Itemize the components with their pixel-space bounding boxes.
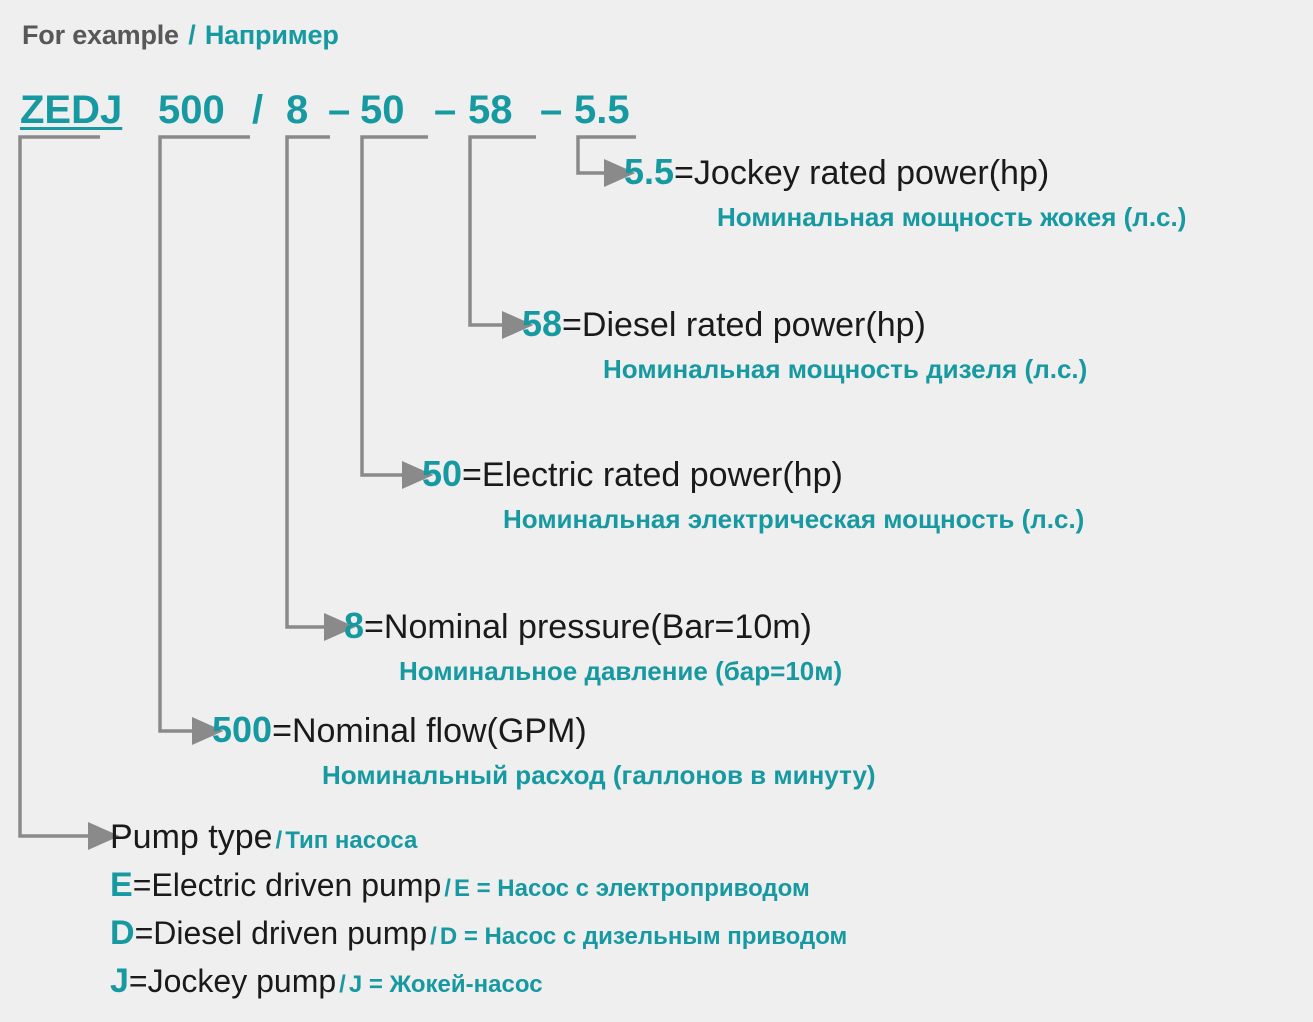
leader-bracket-diesel-rated-power [470, 137, 536, 325]
explanation-value-nominal-pressure: 8 [344, 605, 364, 646]
code-segment-500: 500 [158, 88, 225, 132]
explanation-label-diesel-rated-power: Diesel rated power(hp) [582, 306, 926, 344]
explanation-equals-electric-rated-power: = [462, 456, 482, 494]
pump-type-russian-d: D = Насос с дизельным приводом [440, 923, 847, 950]
pump-type-russian-e: E = Насос с электроприводом [454, 875, 810, 902]
code-segment-5-5: 5.5 [574, 88, 630, 132]
explanation-english-nominal-flow: 500=Nominal flow(GPM) [212, 710, 587, 751]
header-separator: / [186, 20, 197, 50]
code-segment-50: 50 [360, 88, 405, 132]
explanation-label-jockey-rated-power: Jockey rated power(hp) [694, 154, 1049, 192]
leader-bracket-nominal-pressure [287, 137, 330, 627]
pump-type-title-separator: / [273, 827, 286, 854]
explanation-value-nominal-flow: 500 [212, 709, 272, 750]
explanation-value-electric-rated-power: 50 [422, 453, 462, 494]
pump-type-row-e: E=Electric driven pump/E = Насос с элект… [110, 863, 847, 911]
explanation-russian-nominal-pressure: Номинальное давление (бар=10м) [399, 654, 842, 688]
leader-bracket-pump-type [20, 137, 100, 836]
explanation-label-electric-rated-power: Electric rated power(hp) [482, 456, 843, 494]
pump-type-code-d: D [110, 914, 135, 952]
leader-bracket-electric-rated-power [362, 137, 428, 475]
explanation-russian-electric-rated-power: Номинальная электрическая мощность (л.с.… [503, 502, 1084, 536]
explanation-russian-diesel-rated-power: Номинальная мощность дизеля (л.с.) [603, 352, 1087, 386]
explanation-label-nominal-pressure: Nominal pressure(Bar=10m) [384, 608, 812, 646]
explanation-english-jockey-rated-power: 5.5=Jockey rated power(hp) [624, 152, 1049, 193]
explanation-english-electric-rated-power: 50=Electric rated power(hp) [422, 454, 843, 495]
pump-type-separator-d: / [427, 923, 440, 950]
code-segment-/: / [252, 88, 263, 132]
pump-type-separator-j: / [336, 971, 349, 998]
explanation-label-nominal-flow: Nominal flow(GPM) [292, 712, 587, 750]
pump-type-equals-e: = [133, 867, 152, 903]
pump-type-title-russian: Тип насоса [285, 827, 417, 854]
code-segment-8: 8 [286, 88, 308, 132]
pump-type-block: Pump type/Тип насоса E=Electric driven p… [110, 815, 847, 1007]
explanation-equals-diesel-rated-power: = [562, 306, 582, 344]
pump-type-english-j: Jockey pump [148, 963, 337, 999]
explanation-russian-nominal-flow: Номинальный расход (галлонов в минуту) [322, 758, 876, 792]
pump-type-row-d: D=Diesel driven pump/D = Насос с дизельн… [110, 911, 847, 959]
pump-type-row-j: J=Jockey pump/J = Жокей-насос [110, 959, 847, 1007]
pump-type-code-e: E [110, 866, 133, 904]
code-segment-58: 58 [468, 88, 513, 132]
pump-type-equals-j: = [129, 963, 148, 999]
pump-type-code-j: J [110, 962, 129, 1000]
pump-model-code-diagram: For example / Например ZEDJ500/8–50–58–5… [0, 0, 1313, 1022]
code-segment-dash: – [540, 88, 562, 132]
explanation-equals-nominal-flow: = [272, 712, 292, 750]
explanation-english-nominal-pressure: 8=Nominal pressure(Bar=10m) [344, 606, 812, 647]
code-segment-zedj: ZEDJ [20, 88, 122, 132]
explanation-value-jockey-rated-power: 5.5 [624, 151, 674, 192]
header-english: For example [22, 20, 179, 50]
pump-type-separator-e: / [441, 875, 454, 902]
pump-type-english-d: Diesel driven pump [153, 915, 427, 951]
pump-type-equals-d: = [135, 915, 154, 951]
explanation-value-diesel-rated-power: 58 [522, 303, 562, 344]
explanation-russian-jockey-rated-power: Номинальная мощность жокея (л.с.) [717, 200, 1186, 234]
pump-type-english-e: Electric driven pump [151, 867, 441, 903]
pump-type-title: Pump type/Тип насоса [110, 815, 847, 863]
pump-type-title-english: Pump type [110, 818, 273, 856]
code-segment-dash: – [328, 88, 350, 132]
header-line: For example / Например [22, 20, 339, 51]
explanation-equals-jockey-rated-power: = [674, 154, 694, 192]
explanation-english-diesel-rated-power: 58=Diesel rated power(hp) [522, 304, 926, 345]
pump-type-russian-j: J = Жокей-насос [349, 971, 543, 998]
explanation-equals-nominal-pressure: = [364, 608, 384, 646]
header-russian: Например [205, 20, 339, 50]
code-segment-dash: – [434, 88, 456, 132]
leader-bracket-nominal-flow [160, 137, 250, 731]
pump-type-rows: E=Electric driven pump/E = Насос с элект… [110, 863, 847, 1007]
